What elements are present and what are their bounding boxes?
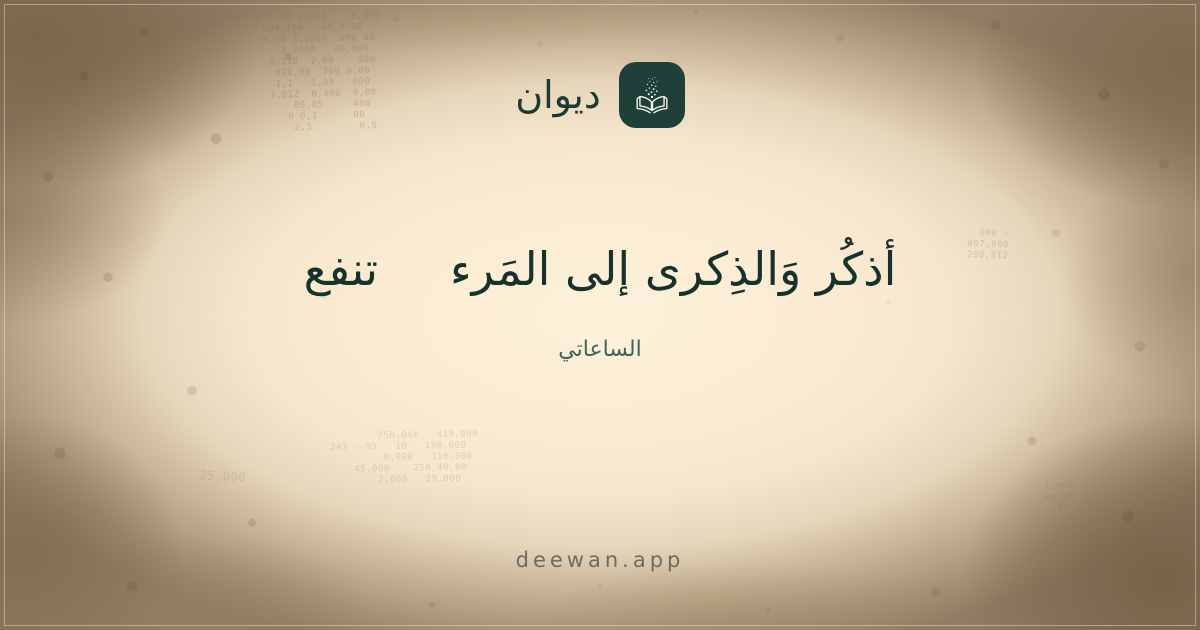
- verse-hemistich-first: أذكُر وَالذِكرى إلى المَرء: [450, 236, 896, 303]
- verse-hemistich-second: تنفع: [304, 236, 378, 303]
- app-logo-tile[interactable]: [619, 62, 685, 128]
- card-content: ديوان أذكُر وَالذِكرى إلى المَرء تنفع ال…: [0, 0, 1200, 630]
- verse-line: أذكُر وَالذِكرى إلى المَرء تنفع: [304, 236, 897, 303]
- app-brand-name: ديوان: [515, 76, 601, 114]
- quote-card: 0,000 1,000 5,0,00 49,0.00 000,100 00 00…: [0, 0, 1200, 630]
- poet-name: الساعاتي: [558, 339, 641, 361]
- open-book-sparkles-icon: [631, 74, 673, 116]
- brand-header[interactable]: ديوان: [515, 62, 685, 128]
- verse-block: أذكُر وَالذِكرى إلى المَرء تنفع: [0, 236, 1200, 303]
